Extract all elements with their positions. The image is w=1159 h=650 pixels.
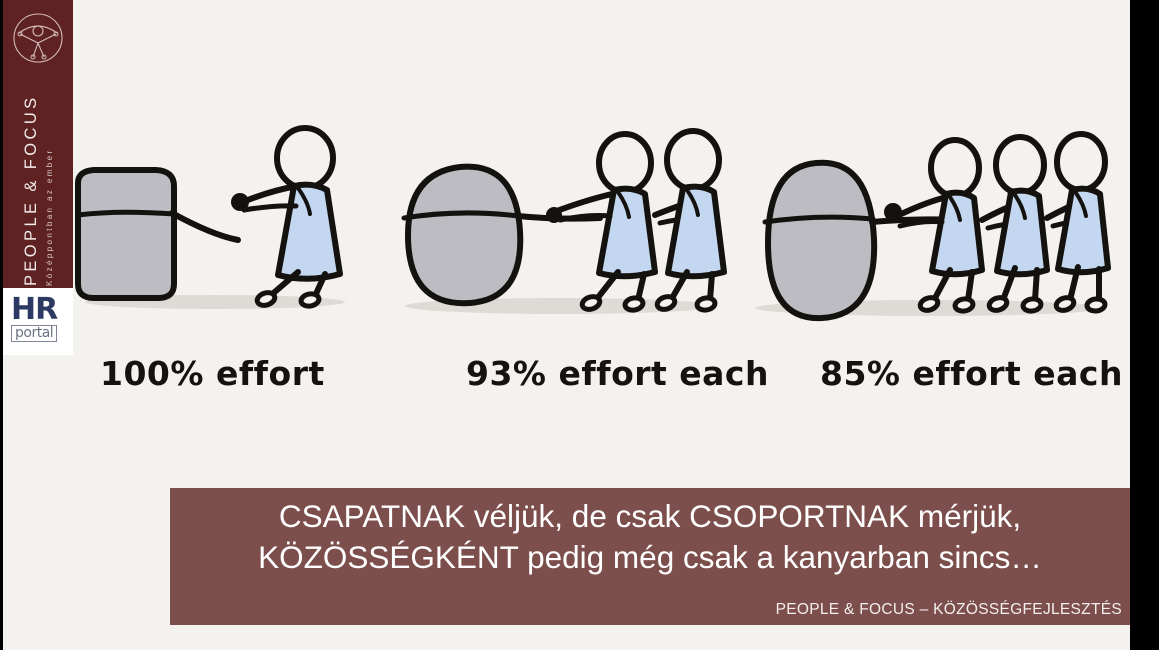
brand-name: PEOPLE & FOCUS	[22, 94, 40, 286]
slide-canvas: 100% effort 93% effort each 85% effort e…	[0, 0, 1159, 650]
caption-line-2: KÖZÖSSÉGKÉNT pedig még csak a kanyarban …	[170, 537, 1130, 578]
left-black-edge	[0, 0, 3, 650]
effort-label-group-3: 85% effort each	[820, 354, 1123, 393]
right-black-band	[1130, 0, 1159, 650]
hr-logo-secondary: portal	[15, 326, 53, 341]
caption-line-1: CSAPATNAK véljük, de csak CSOPORTNAK mér…	[170, 496, 1130, 537]
effort-label-group-1: 100% effort	[100, 354, 325, 393]
caption-text-block: CSAPATNAK véljük, de csak CSOPORTNAK mér…	[170, 496, 1130, 578]
brand-sidebar: PEOPLE & FOCUS Középpontban az ember	[3, 0, 73, 288]
hr-logo-primary: HR	[11, 296, 65, 324]
caption-band: CSAPATNAK véljük, de csak CSOPORTNAK mér…	[170, 488, 1130, 625]
brand-vertical-text: PEOPLE & FOCUS Középpontban az ember	[3, 66, 73, 288]
vitruvian-circle-logo	[12, 12, 64, 64]
effort-label-group-2: 93% effort each	[466, 354, 769, 393]
brand-tagline: Középpontban az ember	[45, 148, 54, 286]
caption-footer: PEOPLE & FOCUS – KÖZÖSSÉGFEJLESZTÉS	[776, 601, 1122, 619]
hr-logo-secondary-box: portal	[11, 325, 57, 342]
hr-portal-logo: HR portal	[3, 288, 73, 355]
